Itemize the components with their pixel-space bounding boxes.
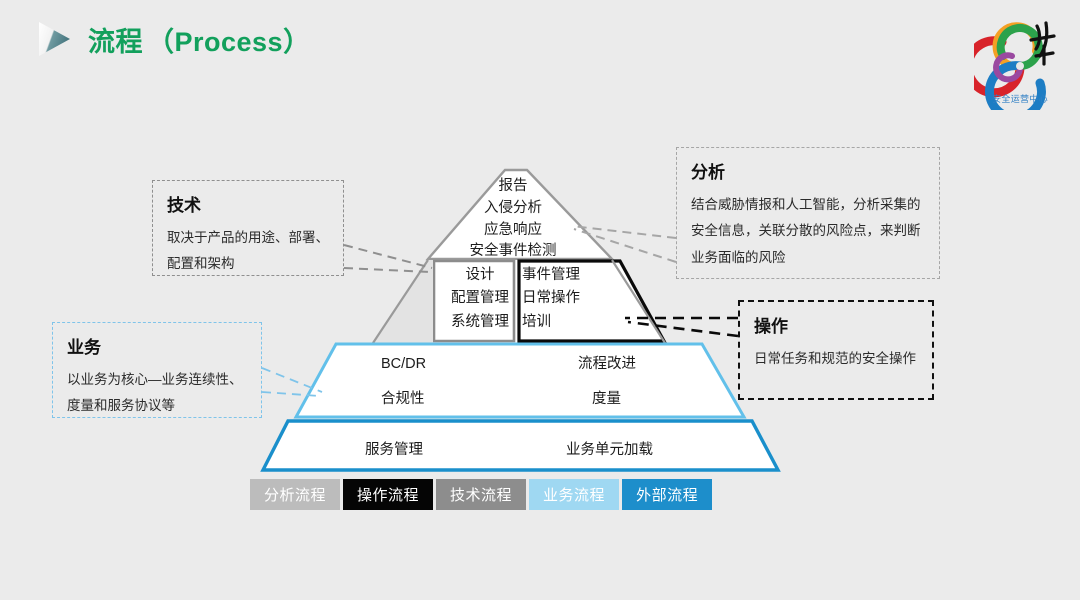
callout-analysis: 分析 结合威胁情报和人工智能，分析采集的安全信息，关联分散的风险点，来判断业务面…	[676, 147, 940, 279]
tier-operation-line-3: 培训	[522, 311, 626, 334]
tier-external-right: 业务单元加载	[566, 440, 653, 461]
legend-item-technology: 技术流程	[436, 479, 526, 510]
tier-business-right-1: 流程改进	[578, 354, 636, 375]
tier-business-left-1: BC/DR	[381, 354, 426, 375]
legend-item-business-label: 业务流程	[543, 484, 605, 505]
callout-business: 业务 以业务为核心—业务连续性、度量和服务协议等	[52, 322, 262, 418]
tier-business-left-2: 合规性	[381, 389, 425, 410]
legend-item-operation: 操作流程	[343, 479, 433, 510]
pyramid-tier-external	[263, 421, 778, 470]
tier-analysis-line-3: 应急响应	[443, 220, 583, 242]
legend-item-analysis: 分析流程	[250, 479, 340, 510]
callout-operation: 操作 日常任务和规范的安全操作	[738, 300, 934, 400]
callout-technology-body: 取决于产品的用途、部署、配置和架构	[167, 225, 331, 278]
callout-technology-title: 技术	[167, 191, 331, 216]
callout-technology: 技术 取决于产品的用途、部署、配置和架构	[152, 180, 344, 276]
legend-item-operation-label: 操作流程	[357, 484, 419, 505]
tier-analysis-line-4: 安全事件检测	[443, 241, 583, 263]
legend: 分析流程 操作流程 技术流程 业务流程 外部流程	[250, 479, 712, 510]
tier-analysis-line-2: 入侵分析	[443, 198, 583, 220]
tier-technology-line-1: 设计	[425, 264, 535, 287]
legend-item-analysis-label: 分析流程	[264, 484, 326, 505]
tier-external-left: 服务管理	[365, 440, 423, 461]
tier-analysis-labels: 报告 入侵分析 应急响应 安全事件检测	[443, 176, 583, 263]
legend-item-external-label: 外部流程	[636, 484, 698, 505]
tier-operation-line-1: 事件管理	[522, 264, 626, 287]
tier-operation-labels: 事件管理 日常操作 培训	[522, 264, 626, 334]
tier-operation-line-2: 日常操作	[522, 287, 626, 310]
tier-technology-line-3: 系统管理	[425, 311, 535, 334]
tier-technology-line-2: 配置管理	[425, 287, 535, 310]
legend-item-business: 业务流程	[529, 479, 619, 510]
legend-item-external: 外部流程	[622, 479, 712, 510]
callout-operation-body: 日常任务和规范的安全操作	[754, 346, 920, 372]
leader-technology	[344, 245, 432, 268]
callout-analysis-body: 结合威胁情报和人工智能，分析采集的安全信息，关联分散的风险点，来判断业务面临的风…	[691, 192, 927, 271]
slide-canvas: 流程（Process） 安全运营中心	[0, 0, 1080, 600]
leader-technology-2	[344, 268, 430, 272]
tier-technology-labels: 设计 配置管理 系统管理	[425, 264, 535, 334]
legend-item-technology-label: 技术流程	[450, 484, 512, 505]
callout-business-body: 以业务为核心—业务连续性、度量和服务协议等	[67, 367, 249, 420]
callout-analysis-title: 分析	[691, 158, 927, 183]
tier-analysis-line-1: 报告	[443, 176, 583, 198]
pyramid-tier-business	[296, 344, 744, 417]
callout-business-title: 业务	[67, 333, 249, 358]
callout-operation-title: 操作	[754, 312, 920, 337]
tier-business-right-2: 度量	[592, 389, 621, 410]
